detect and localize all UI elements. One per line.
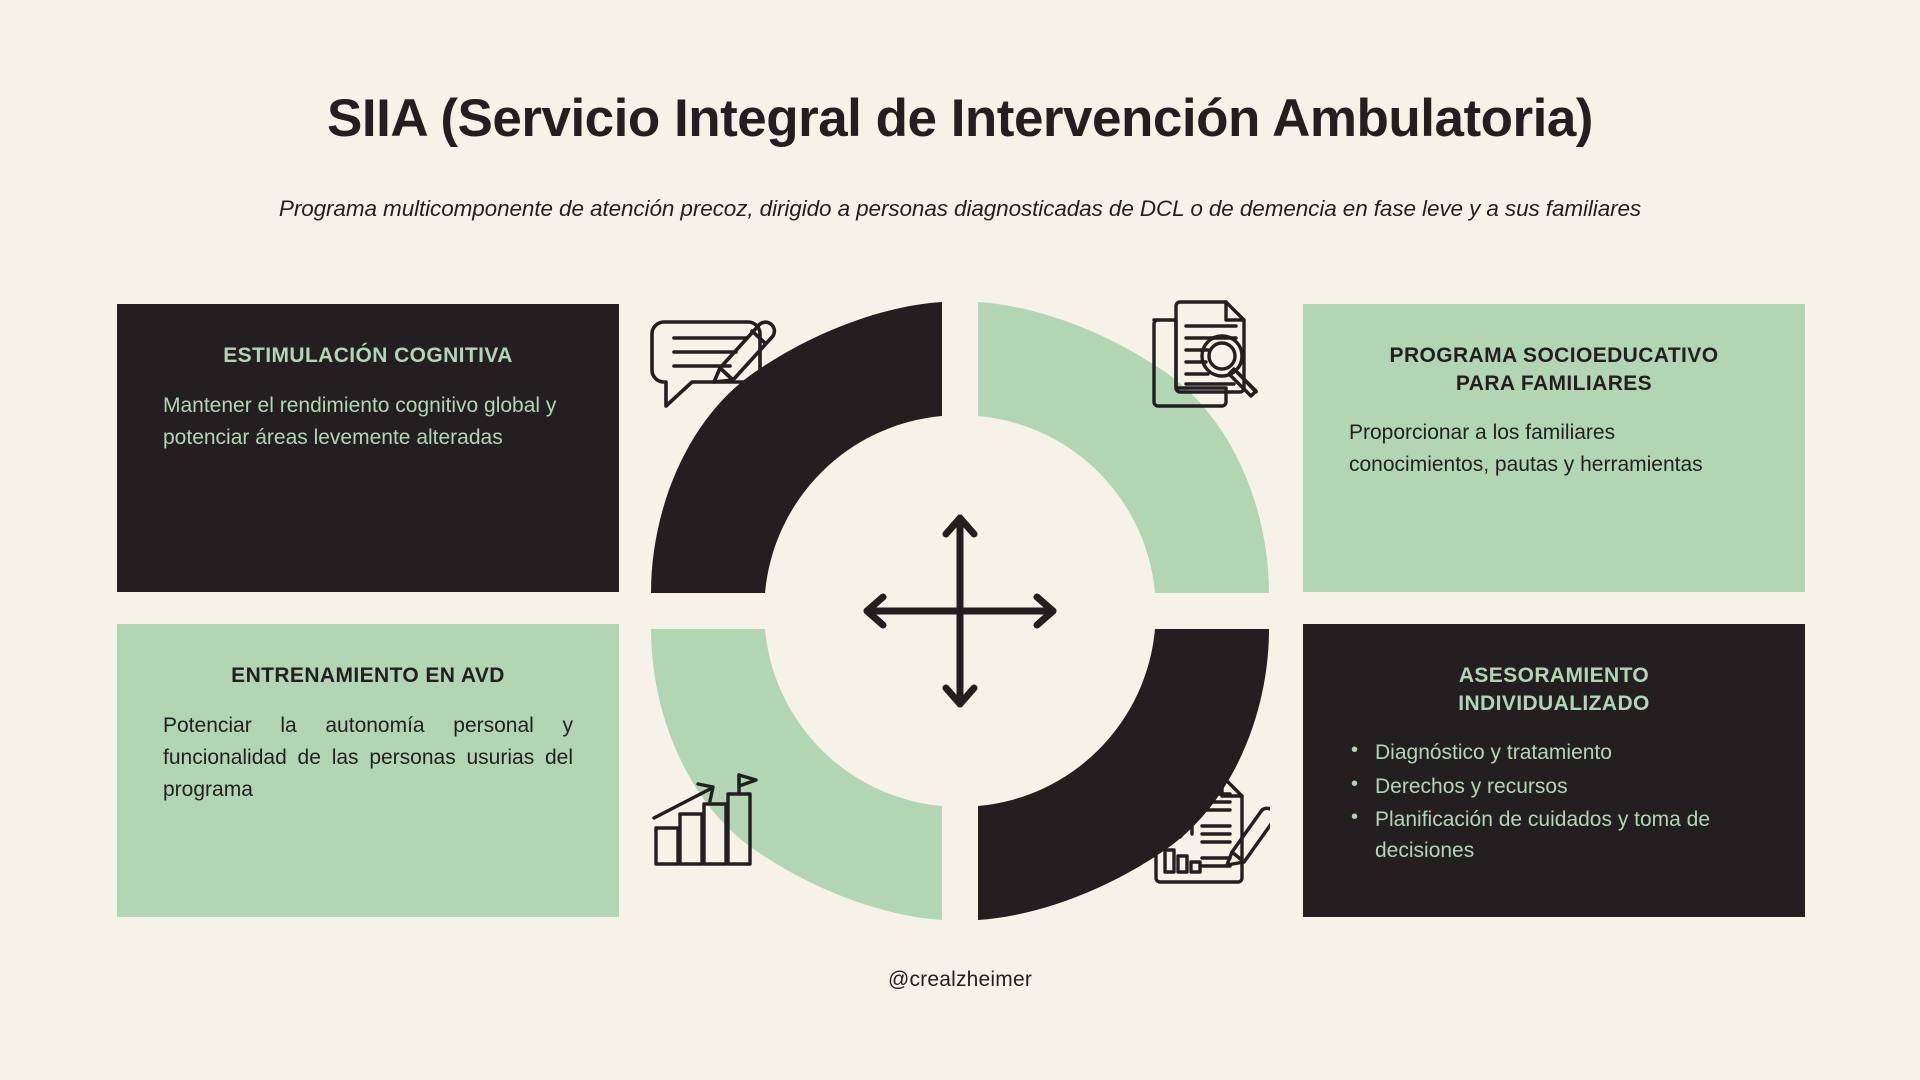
list-item: Diagnóstico y tratamiento xyxy=(1349,737,1759,768)
speech-bubble-pencil-icon xyxy=(648,300,778,418)
card-title: ENTRENAMIENTO EN AVD xyxy=(163,662,573,690)
growth-bars-flag-icon xyxy=(650,772,766,884)
card-title-line-1: ASESORAMIENTO xyxy=(1349,662,1759,690)
card-title: PROGRAMA SOCIOEDUCATIVO PARA FAMILIARES xyxy=(1349,342,1759,397)
card-body: Mantener el rendimiento cognitivo global… xyxy=(163,390,573,454)
social-handle: @crealzheimer xyxy=(0,968,1920,992)
card-bullet-list: Diagnóstico y tratamiento Derechos y rec… xyxy=(1349,737,1759,865)
documents-magnifier-icon xyxy=(1148,296,1268,418)
card-body: Potenciar la autonomía personal y funcio… xyxy=(163,710,573,806)
page-subtitle: Programa multicomponente de atención pre… xyxy=(0,196,1920,222)
card-title: ESTIMULACIÓN COGNITIVA xyxy=(163,342,573,370)
card-estimulacion-cognitiva: ESTIMULACIÓN COGNITIVA Mantener el rendi… xyxy=(117,304,619,592)
four-way-arrow-icon xyxy=(867,518,1053,704)
report-pencil-icon xyxy=(1152,768,1270,892)
card-programa-socioeducativo: PROGRAMA SOCIOEDUCATIVO PARA FAMILIARES … xyxy=(1303,304,1805,592)
card-entrenamiento-avd: ENTRENAMIENTO EN AVD Potenciar la autono… xyxy=(117,624,619,917)
card-title-line-2: PARA FAMILIARES xyxy=(1349,370,1759,398)
list-item: Planificación de cuidados y toma de deci… xyxy=(1349,804,1759,866)
card-title-line-2: INDIVIDUALIZADO xyxy=(1349,690,1759,718)
card-body: Proporcionar a los familiares conocimien… xyxy=(1349,417,1759,481)
infographic-canvas: SIIA (Servicio Integral de Intervención … xyxy=(0,0,1920,1080)
list-item: Derechos y recursos xyxy=(1349,771,1759,802)
page-title: SIIA (Servicio Integral de Intervención … xyxy=(0,88,1920,149)
card-title-line-1: PROGRAMA SOCIOEDUCATIVO xyxy=(1349,342,1759,370)
card-asesoramiento-individualizado: ASESORAMIENTO INDIVIDUALIZADO Diagnóstic… xyxy=(1303,624,1805,917)
card-title: ASESORAMIENTO INDIVIDUALIZADO xyxy=(1349,662,1759,717)
